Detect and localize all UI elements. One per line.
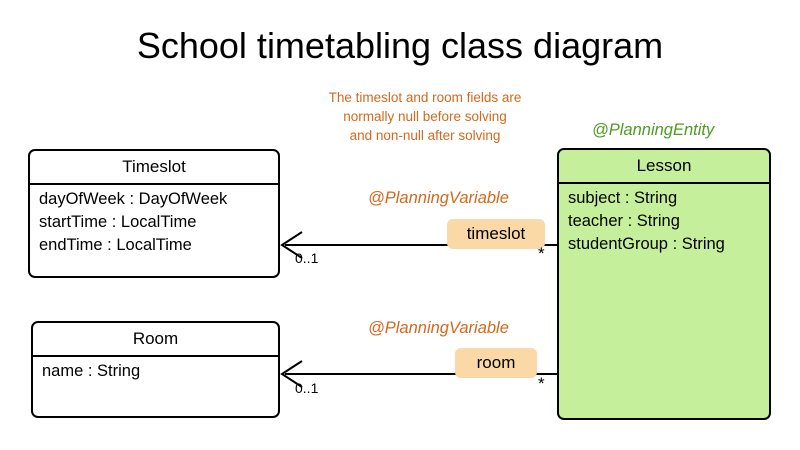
class-attribute: name : String	[42, 360, 278, 383]
multiplicity-room-end: 0..1	[295, 380, 318, 396]
class-attribute: subject : String	[568, 187, 769, 210]
role-badge-room[interactable]: room	[455, 348, 537, 378]
page-title: School timetabling class diagram	[0, 24, 800, 68]
class-attributes-lesson: subject : String teacher : String studen…	[559, 184, 769, 256]
class-attribute: studentGroup : String	[568, 233, 769, 256]
class-attribute: endTime : LocalTime	[39, 234, 278, 257]
class-attributes-timeslot: dayOfWeek : DayOfWeek startTime : LocalT…	[30, 185, 278, 257]
stereotype-planning-variable-timeslot: @PlanningVariable	[368, 188, 509, 208]
stereotype-planning-entity: @PlanningEntity	[592, 120, 714, 140]
class-name-timeslot: Timeslot	[30, 151, 278, 185]
role-badge-timeslot[interactable]: timeslot	[447, 219, 545, 249]
stereotype-planning-variable-room: @PlanningVariable	[368, 318, 509, 338]
multiplicity-lesson-end-timeslot: *	[538, 246, 545, 262]
note-line-1: The timeslot and room fields are	[270, 88, 580, 107]
class-attribute: dayOfWeek : DayOfWeek	[39, 188, 278, 211]
class-name-lesson: Lesson	[559, 150, 769, 184]
diagram-note: The timeslot and room fields are normall…	[270, 88, 580, 145]
note-line-2: normally null before solving	[270, 107, 580, 126]
multiplicity-lesson-end-room: *	[538, 376, 545, 392]
class-attribute: teacher : String	[568, 210, 769, 233]
note-line-3: and non-null after solving	[270, 126, 580, 145]
class-attributes-room: name : String	[33, 357, 278, 383]
multiplicity-timeslot-end: 0..1	[295, 250, 318, 266]
class-attribute: startTime : LocalTime	[39, 211, 278, 234]
class-box-lesson[interactable]: Lesson subject : String teacher : String…	[557, 148, 771, 420]
class-box-room[interactable]: Room name : String	[31, 321, 280, 418]
class-box-timeslot[interactable]: Timeslot dayOfWeek : DayOfWeek startTime…	[28, 149, 280, 278]
class-name-room: Room	[33, 323, 278, 357]
